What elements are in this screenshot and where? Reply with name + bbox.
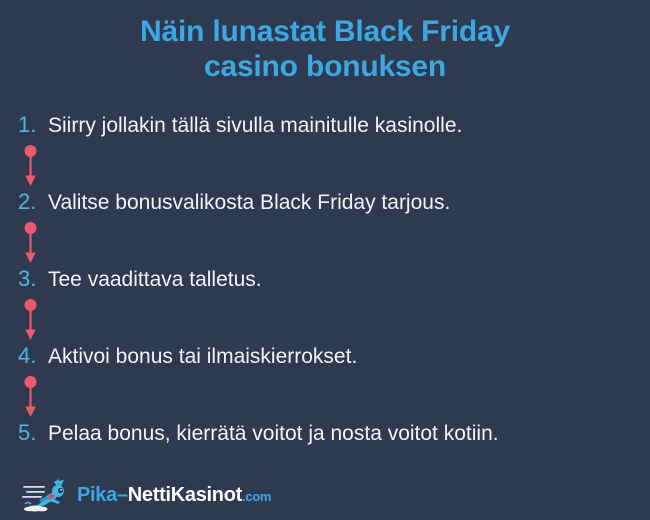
arrow-connector-1: [0, 144, 650, 189]
step-number: 3.: [18, 266, 48, 292]
title-line-2: casino bonuksen: [0, 49, 650, 84]
list-item: 5. Pelaa bonus, kierrätä voitot ja nosta…: [0, 420, 650, 452]
title-line-1: Näin lunastat Black Friday: [0, 14, 650, 49]
running-rabbit-icon: [22, 478, 72, 512]
page-title: Näin lunastat Black Friday casino bonuks…: [0, 14, 650, 85]
arrow-connector-3: [0, 298, 650, 343]
step-number: 5.: [18, 420, 48, 446]
step-number: 4.: [18, 343, 48, 369]
list-item: 3. Tee vaadittava talletus.: [0, 266, 650, 298]
step-number: 2.: [18, 189, 48, 215]
step-text: Pelaa bonus, kierrätä voitot ja nosta vo…: [48, 422, 499, 446]
arrow-connector-2: [0, 221, 650, 266]
list-item: 4. Aktivoi bonus tai ilmaiskierrokset.: [0, 343, 650, 375]
step-text: Tee vaadittava talletus.: [48, 268, 262, 292]
down-arrow-icon: [21, 221, 41, 265]
steps-list: 1. Siirry jollakin tällä sivulla mainitu…: [0, 112, 650, 452]
list-item: 2. Valitse bonusvalikosta Black Friday t…: [0, 189, 650, 221]
logo-text-netti: NettiKasinot: [128, 484, 242, 506]
step-text: Siirry jollakin tällä sivulla mainitulle…: [48, 114, 462, 138]
step-text: Aktivoi bonus tai ilmaiskierrokset.: [48, 345, 357, 369]
infographic-canvas: Näin lunastat Black Friday casino bonuks…: [0, 0, 650, 520]
step-number: 1.: [18, 112, 48, 138]
arrow-connector-4: [0, 375, 650, 420]
list-item: 1. Siirry jollakin tällä sivulla mainitu…: [0, 112, 650, 144]
logo-wordmark: Pika–NettiKasinot.com: [77, 484, 271, 507]
logo-text-pika: Pika–: [77, 484, 128, 506]
down-arrow-icon: [21, 144, 41, 188]
down-arrow-icon: [21, 298, 41, 342]
step-text: Valitse bonusvalikosta Black Friday tarj…: [48, 191, 450, 215]
site-logo[interactable]: Pika–NettiKasinot.com: [22, 478, 271, 512]
logo-text-com: .com: [242, 489, 271, 504]
down-arrow-icon: [21, 375, 41, 419]
